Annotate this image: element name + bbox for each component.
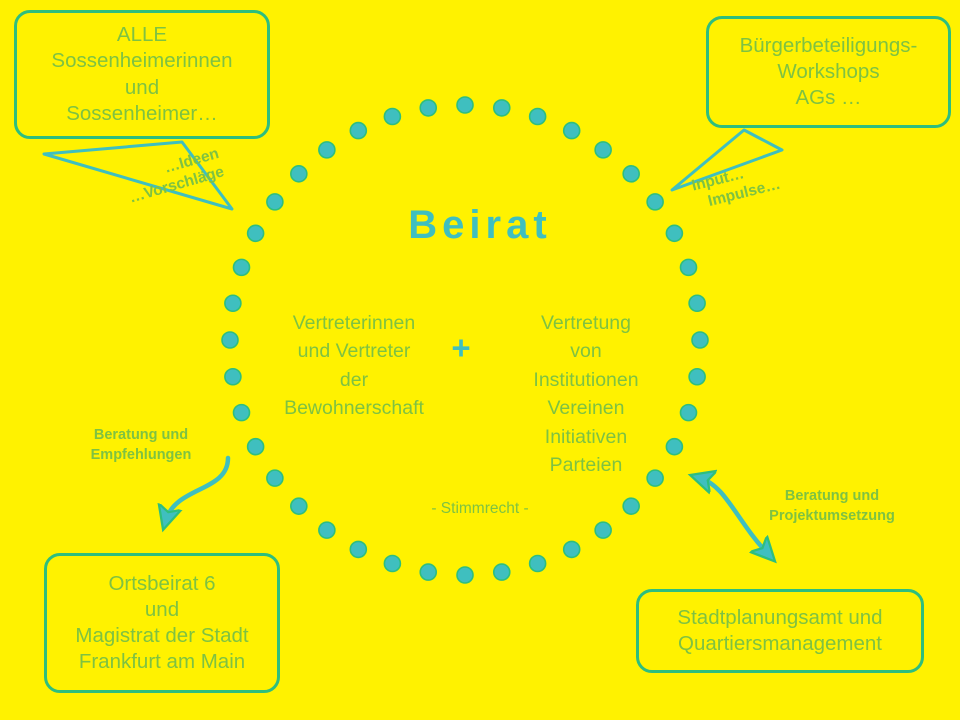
circle-dot (225, 295, 241, 311)
circle-dot (248, 439, 264, 455)
center-line: und Vertreter (256, 337, 452, 365)
center-line: Initiativen (488, 423, 684, 451)
plus-icon: + (441, 331, 481, 364)
circle-dot (623, 166, 639, 182)
callout-line: Quartiersmanagement (678, 631, 882, 657)
box-ortsbeirat-magistrat[interactable]: Ortsbeirat 6 und Magistrat der Stadt Fra… (44, 553, 280, 693)
callout-line: Ortsbeirat 6 (108, 571, 215, 597)
label-beratung-empfehlungen: Beratung und Empfehlungen (76, 426, 206, 465)
callout-line: ALLE (117, 22, 167, 48)
circle-dot (319, 142, 335, 158)
box-stadtplanungsamt-quartiersmanagement[interactable]: Stadtplanungsamt und Quartiersmanagement (636, 589, 924, 673)
circle-dot (494, 564, 510, 580)
circle-dot (595, 522, 611, 538)
circle-dot (564, 541, 580, 557)
callout-line: AGs … (795, 85, 861, 111)
center-line: Institutionen (488, 366, 684, 394)
callout-line: Workshops (777, 59, 879, 85)
circle-dot (384, 109, 400, 125)
label-line: Empfehlungen (76, 446, 206, 466)
circle-dot (350, 541, 366, 557)
label-line: Projektumsetzung (744, 507, 920, 527)
page-title: Beirat (0, 203, 960, 248)
label-line: Beratung und (76, 426, 206, 446)
label-ideen-vorschlaege: …Ideen …Vorschläge (122, 145, 227, 208)
callout-line: und (145, 597, 179, 623)
callout-box-alle[interactable]: ALLE Sossenheimerinnen und Sossenheimer… (14, 10, 270, 139)
label-line: Beratung und (744, 487, 920, 507)
circle-dot (350, 123, 366, 139)
circle-dot (457, 567, 473, 583)
center-line: der (256, 366, 452, 394)
callout-line: Frankfurt am Main (79, 649, 245, 675)
callout-line: Sossenheimerinnen (51, 48, 232, 74)
callout-line: Bürgerbeteiligungs- (740, 33, 918, 59)
circle-dot (689, 295, 705, 311)
callout-line: Sossenheimer… (66, 101, 218, 127)
circle-dot (234, 259, 250, 275)
center-line: von (488, 337, 684, 365)
circle-dot (420, 100, 436, 116)
label-beratung-projektumsetzung: Beratung und Projektumsetzung (744, 487, 920, 526)
center-column-bewohnerschaft: Vertreterinnen und Vertreter der Bewohne… (256, 309, 452, 423)
center-line: Vertretung (488, 309, 684, 337)
diagram-canvas: ALLE Sossenheimerinnen und Sossenheimer…… (0, 0, 960, 720)
circle-dot (681, 259, 697, 275)
center-line: Vertreterinnen (256, 309, 452, 337)
circle-dot (319, 522, 335, 538)
center-line: Vereinen (488, 394, 684, 422)
circle-dot (692, 332, 708, 348)
circle-dot (291, 166, 307, 182)
circle-dot (384, 556, 400, 572)
center-line: Parteien (488, 451, 684, 479)
circle-dot (225, 369, 241, 385)
circle-dot (530, 109, 546, 125)
circle-dot (494, 100, 510, 116)
center-line: Bewohnerschaft (256, 394, 452, 422)
circle-dot (595, 142, 611, 158)
center-column-institutionen: Vertretung von Institutionen Vereinen In… (488, 309, 684, 480)
callout-box-buergerbeteiligung[interactable]: Bürgerbeteiligungs- Workshops AGs … (706, 16, 951, 128)
circle-dot (689, 369, 705, 385)
callout-line: und (125, 75, 159, 101)
circle-dot (564, 123, 580, 139)
circle-dot (267, 470, 283, 486)
callout-line: Magistrat der Stadt (75, 623, 248, 649)
circle-dot (457, 97, 473, 113)
circle-dot (420, 564, 436, 580)
circle-dot (530, 556, 546, 572)
circle-dot (234, 405, 250, 421)
circle-dot (222, 332, 238, 348)
callout-line: Stadtplanungsamt und (677, 605, 882, 631)
